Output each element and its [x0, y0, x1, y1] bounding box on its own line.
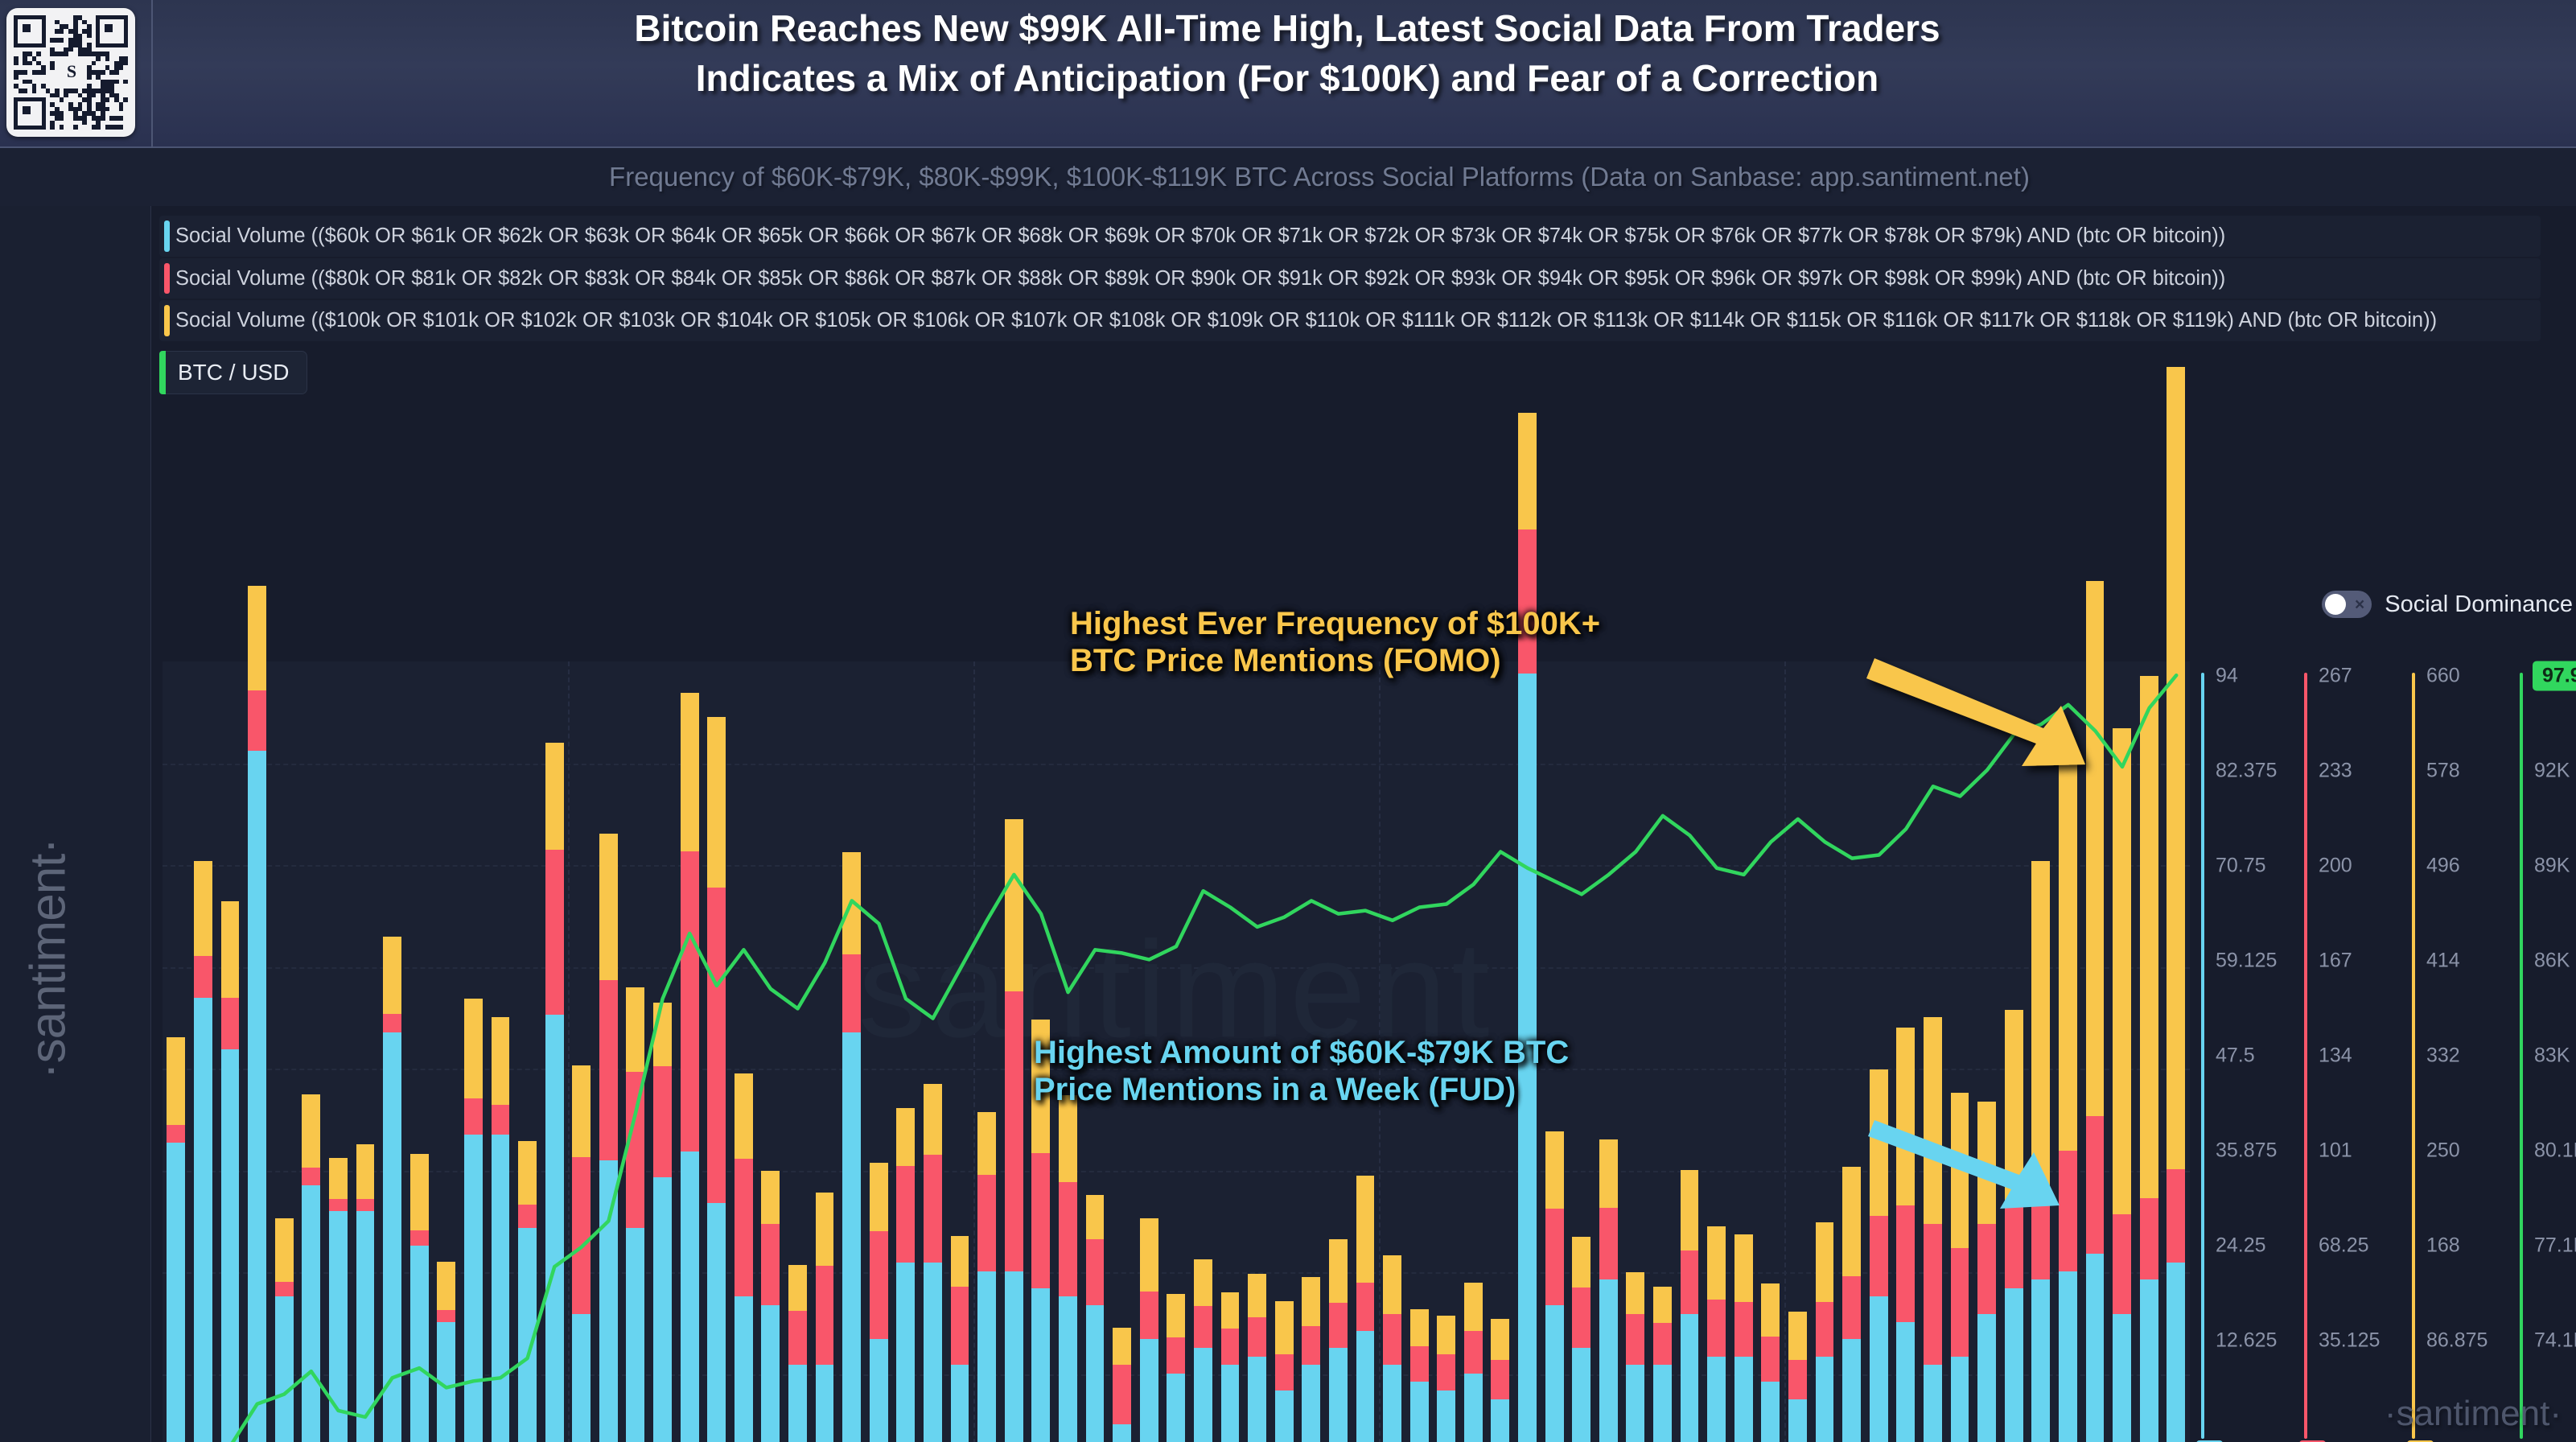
stacked-bar[interactable] [275, 1218, 294, 1442]
annotation-fud-line-2: Price Mentions in a Week (FUD) [1034, 1071, 1569, 1108]
bar-segment [1977, 1224, 1996, 1314]
stacked-bar[interactable] [1086, 1195, 1105, 1442]
bar-slot[interactable] [757, 661, 784, 1442]
stacked-bar[interactable] [492, 1017, 510, 1442]
stacked-bar[interactable] [816, 1193, 834, 1442]
axis-current-value-chip: 97.9K [2533, 661, 2576, 691]
bar-segment [924, 1155, 942, 1263]
page-title: Bitcoin Reaches New $99K All-Time High, … [153, 5, 2422, 105]
bar-slot[interactable] [514, 661, 541, 1442]
stacked-bar[interactable] [518, 1141, 537, 1442]
bar-slot[interactable] [1865, 661, 1892, 1442]
bar-segment [951, 1365, 969, 1442]
stacked-bar[interactable] [707, 717, 726, 1442]
bar-segment [1842, 1276, 1861, 1339]
bar-segment [492, 1135, 510, 1442]
close-icon: × [2355, 596, 2364, 613]
bar-segment [816, 1193, 834, 1266]
qr-code[interactable]: S [6, 8, 135, 137]
bar-segment [2140, 1198, 2158, 1279]
bar-segment [681, 693, 699, 851]
bar-segment [1842, 1339, 1861, 1442]
bar-slot[interactable] [270, 661, 298, 1442]
axis-tick-label: 68.25 [2319, 1234, 2369, 1258]
bar-segment [1464, 1374, 1483, 1442]
stacked-bar[interactable] [2140, 676, 2158, 1442]
stacked-bar[interactable] [735, 1073, 753, 1442]
stacked-bar[interactable] [2167, 367, 2185, 1442]
bar-segment [221, 1049, 240, 1442]
bar-segment [518, 1141, 537, 1205]
bar-slot[interactable] [1595, 661, 1622, 1442]
stacked-bar[interactable] [2031, 861, 2050, 1442]
bar-segment [1275, 1390, 1294, 1442]
bar-segment [2005, 1010, 2023, 1207]
stacked-bar[interactable] [2113, 728, 2131, 1442]
bar-segment [2031, 1189, 2050, 1279]
stacked-bar[interactable] [545, 743, 564, 1442]
bar-segment [1221, 1329, 1240, 1365]
bar-slot[interactable] [946, 661, 973, 1442]
bar-segment [1248, 1317, 1266, 1357]
bar-segment [275, 1218, 294, 1282]
stacked-bar[interactable] [356, 1144, 375, 1442]
stacked-bar[interactable] [437, 1262, 455, 1442]
bar-segment [464, 1135, 483, 1442]
bar-slot[interactable] [1703, 661, 1730, 1442]
stacked-bar[interactable] [1383, 1255, 1401, 1442]
social-dominance-toggle[interactable]: × [2322, 591, 2372, 618]
bar-segment [816, 1266, 834, 1365]
bar-slot[interactable] [920, 661, 947, 1442]
axis-tick-label: 80.1K [2534, 1139, 2576, 1163]
bar-segment [1707, 1300, 1726, 1357]
stacked-bar[interactable] [1788, 1312, 1807, 1442]
bar-segment [735, 1296, 753, 1442]
stacked-bar[interactable] [2086, 581, 2105, 1442]
bar-segment [1302, 1365, 1320, 1442]
stacked-bar[interactable] [1275, 1301, 1294, 1442]
bar-slot[interactable] [838, 661, 866, 1442]
bar-slot[interactable] [1838, 661, 1866, 1442]
stacked-bar[interactable] [924, 1084, 942, 1442]
bar-segment [1545, 1209, 1564, 1304]
bar-slot[interactable] [865, 661, 892, 1442]
bar-segment [1194, 1348, 1212, 1442]
bar-segment [735, 1159, 753, 1297]
stacked-bar[interactable] [2005, 1010, 2023, 1442]
bar-segment [329, 1211, 348, 1442]
bar-segment [653, 1003, 672, 1066]
bar-segment [356, 1199, 375, 1211]
bar-slot[interactable] [892, 661, 920, 1442]
bar-segment [1545, 1131, 1564, 1209]
bar-segment [1924, 1365, 1942, 1442]
stacked-bar[interactable] [410, 1154, 429, 1442]
stacked-bar[interactable] [1410, 1309, 1429, 1442]
bar-segment [356, 1144, 375, 1199]
social-dominance-control[interactable]: × Social Dominance [2322, 591, 2573, 618]
bar-segment [2113, 1214, 2131, 1313]
bar-segment [896, 1108, 915, 1166]
bar-segment [2086, 581, 2105, 1116]
legend-item-btc-usd[interactable]: BTC / USD [159, 351, 307, 394]
bar-segment [1951, 1248, 1969, 1356]
bar-segment [1816, 1357, 1834, 1442]
axis-tick-label: 35.125 [2319, 1329, 2380, 1353]
bar-segment [735, 1073, 753, 1159]
stacked-bar[interactable] [681, 693, 699, 1442]
bar-segment [1383, 1365, 1401, 1442]
bar-segment [1329, 1239, 1348, 1303]
stacked-bar[interactable] [1464, 1283, 1483, 1442]
stacked-bar[interactable] [788, 1265, 807, 1442]
qr-code-pattern: S [14, 15, 128, 130]
stacked-bar[interactable] [1842, 1167, 1861, 1442]
page-subtitle: Frequency of $60K-$79K, $80K-$99K, $100K… [153, 148, 2486, 206]
stacked-bar[interactable] [1140, 1218, 1158, 1442]
bar-segment [1437, 1354, 1455, 1390]
bar-segment [1572, 1287, 1590, 1348]
bar-segment [1059, 1095, 1077, 1183]
bar-slot[interactable] [1000, 661, 1027, 1442]
bar-slot[interactable] [379, 661, 406, 1442]
bar-slot[interactable] [460, 661, 488, 1442]
bar-segment [1924, 1017, 1942, 1224]
bar-segment [2031, 861, 2050, 1189]
bar-slot[interactable] [676, 661, 703, 1442]
bar-slot[interactable] [433, 661, 460, 1442]
stacked-bar[interactable] [1681, 1170, 1699, 1442]
stacked-bar[interactable] [1951, 1093, 1969, 1442]
axis-tick-label: 86.875 [2426, 1329, 2488, 1353]
bar-slot[interactable] [1649, 661, 1677, 1442]
stacked-bar[interactable] [248, 586, 266, 1442]
bar-segment [1518, 413, 1537, 529]
stacked-bar[interactable] [194, 861, 212, 1442]
stacked-bar[interactable] [1761, 1283, 1780, 1442]
bar-slot[interactable] [487, 661, 514, 1442]
bar-slot[interactable] [298, 661, 325, 1442]
stacked-bar[interactable] [1059, 1095, 1077, 1442]
stacked-bar[interactable] [599, 834, 618, 1442]
bar-segment [545, 743, 564, 850]
axis-tick-label: 82.375 [2216, 760, 2277, 783]
stacked-bar[interactable] [1302, 1277, 1320, 1442]
stacked-bar[interactable] [1167, 1294, 1185, 1442]
bar-slot[interactable] [216, 661, 244, 1442]
stacked-bar[interactable] [1816, 1222, 1834, 1442]
stacked-bar[interactable] [761, 1171, 780, 1442]
bar-segment [707, 1203, 726, 1442]
bar-segment [1356, 1176, 1375, 1283]
stacked-bar[interactable] [1221, 1292, 1240, 1442]
stacked-bar[interactable] [977, 1112, 996, 1442]
bar-segment [410, 1230, 429, 1246]
stacked-bar[interactable] [1626, 1272, 1644, 1442]
legend-item-100k-119k[interactable]: Social Volume (($100k OR $101k OR $102k … [159, 300, 2541, 341]
stacked-bar[interactable] [1248, 1274, 1266, 1442]
bar-segment [356, 1211, 375, 1442]
bar-segment [1059, 1182, 1077, 1296]
bar-slot[interactable] [163, 661, 190, 1442]
bar-slot[interactable] [2135, 661, 2162, 1442]
axis-spine [2520, 673, 2523, 1439]
bar-slot[interactable] [1973, 661, 2001, 1442]
axis-tick-label: 578 [2426, 760, 2460, 783]
bar-segment [1086, 1239, 1105, 1305]
bar-slot[interactable] [622, 661, 649, 1442]
bar-segment [1761, 1382, 1780, 1442]
legend-color-swatch-yellow [164, 305, 170, 336]
bar-slot[interactable] [190, 661, 217, 1442]
stacked-bar[interactable] [1518, 413, 1537, 1442]
stacked-bar[interactable] [572, 1065, 591, 1442]
bar-segment [599, 1160, 618, 1442]
bar-segment [1545, 1305, 1564, 1442]
bar-slot[interactable] [1946, 661, 1973, 1442]
legend-item-80k-99k[interactable]: Social Volume (($80k OR $81k OR $82k OR … [159, 258, 2541, 299]
stacked-bar[interactable] [383, 937, 401, 1442]
bar-segment [2167, 1263, 2185, 1442]
bar-slot[interactable] [1730, 661, 1757, 1442]
bar-segment [2086, 1254, 2105, 1442]
stacked-bar[interactable] [1870, 1069, 1888, 1442]
stacked-bar[interactable] [167, 1037, 185, 1442]
bar-slot[interactable] [1784, 661, 1812, 1442]
bar-slot[interactable] [405, 661, 433, 1442]
bar-slot[interactable] [811, 661, 838, 1442]
bar-segment [1816, 1222, 1834, 1303]
stacked-bar[interactable] [329, 1158, 348, 1442]
axis-tick-label: 92K [2534, 760, 2570, 783]
bar-slot[interactable] [2162, 661, 2190, 1442]
legend-color-swatch-cyan [164, 220, 170, 252]
stacked-bar[interactable] [870, 1163, 888, 1442]
bar-slot[interactable] [1920, 661, 1947, 1442]
stacked-bar[interactable] [1977, 1102, 1996, 1442]
stacked-bar[interactable] [464, 999, 483, 1442]
legend-label-80k-99k: Social Volume (($80k OR $81k OR $82k OR … [175, 265, 2225, 293]
bar-segment [1031, 1153, 1050, 1288]
axis-tick-label: 233 [2319, 760, 2352, 783]
bar-segment [545, 1015, 564, 1442]
axis-tick-label: 414 [2426, 950, 2460, 973]
bar-slot[interactable] [1568, 661, 1595, 1442]
bar-segment [1059, 1296, 1077, 1442]
bar-segment [924, 1084, 942, 1155]
bar-segment [2059, 1151, 2077, 1271]
bar-slot[interactable] [352, 661, 379, 1442]
bar-slot[interactable] [244, 661, 271, 1442]
bar-segment [1005, 991, 1023, 1271]
screenshot-root: S Bitcoin Reaches New $99K All-Time High… [0, 0, 2576, 1442]
bar-segment [870, 1163, 888, 1231]
bar-segment [1599, 1279, 1618, 1442]
annotation-fud: Highest Amount of $60K-$79K BTC Price Me… [1034, 1034, 1569, 1108]
stacked-bar[interactable] [1356, 1176, 1375, 1442]
axis-tick-label: 24.25 [2216, 1234, 2266, 1258]
bar-segment [572, 1065, 591, 1158]
bar-segment [761, 1171, 780, 1224]
axis-spine [2201, 673, 2204, 1439]
axis-tick-label: 47.5 [2216, 1044, 2255, 1068]
bar-segment [977, 1175, 996, 1271]
bar-segment [1356, 1331, 1375, 1442]
bar-segment [329, 1199, 348, 1211]
bar-segment [1734, 1234, 1753, 1303]
bar-segment [1951, 1357, 1969, 1442]
stacked-bar[interactable] [842, 852, 861, 1442]
stacked-bar[interactable] [221, 901, 240, 1442]
bar-slot[interactable] [568, 661, 595, 1442]
bar-segment [1113, 1424, 1131, 1442]
stacked-bar[interactable] [1491, 1319, 1509, 1442]
bar-segment [1140, 1218, 1158, 1292]
bar-segment [383, 1032, 401, 1442]
bar-segment [1437, 1390, 1455, 1442]
bar-segment [1248, 1274, 1266, 1317]
chart-panel: Social Volume (($60k OR $61k OR $62k OR … [151, 206, 2576, 1442]
bar-segment [302, 1168, 320, 1185]
stacked-bar[interactable] [1005, 819, 1023, 1442]
bar-segment [437, 1262, 455, 1310]
bar-segment [518, 1205, 537, 1229]
qr-logo: S [54, 54, 89, 89]
bar-slot[interactable] [541, 661, 568, 1442]
axis-tick-label: 12.625 [2216, 1329, 2277, 1353]
legend-item-60k-79k[interactable]: Social Volume (($60k OR $61k OR $62k OR … [159, 216, 2541, 257]
bar-segment [492, 1017, 510, 1105]
stacked-bar[interactable] [302, 1094, 320, 1442]
bar-segment [761, 1305, 780, 1442]
bar-segment [1870, 1216, 1888, 1297]
bar-segment [1572, 1348, 1590, 1442]
bar-segment [1681, 1250, 1699, 1313]
bar-segment [1707, 1226, 1726, 1300]
bar-segment [626, 987, 644, 1073]
bar-slot[interactable] [730, 661, 757, 1442]
bar-segment [518, 1228, 537, 1442]
bar-slot[interactable] [595, 661, 623, 1442]
bar-segment [1788, 1312, 1807, 1360]
bar-segment [1140, 1339, 1158, 1442]
bar-segment [1383, 1255, 1401, 1313]
bar-segment [1221, 1292, 1240, 1329]
stacked-bar[interactable] [626, 987, 644, 1442]
bar-slot[interactable] [1811, 661, 1838, 1442]
bar-segment [1275, 1301, 1294, 1354]
bar-segment [1410, 1382, 1429, 1442]
bar-segment [1924, 1224, 1942, 1365]
stacked-bar[interactable] [1437, 1316, 1455, 1442]
bar-segment [870, 1339, 888, 1442]
bar-segment [1761, 1337, 1780, 1382]
bar-segment [167, 1143, 185, 1442]
bar-segment [1977, 1102, 1996, 1223]
bar-slot[interactable] [649, 661, 677, 1442]
bar-slot[interactable] [784, 661, 812, 1442]
bar-slot[interactable] [2081, 661, 2109, 1442]
bar-segment [383, 937, 401, 1015]
stacked-bar[interactable] [1653, 1287, 1672, 1442]
bar-slot[interactable] [703, 661, 730, 1442]
bar-segment [1816, 1302, 1834, 1356]
stacked-bar[interactable] [1707, 1226, 1726, 1442]
axis-tick-label: 70.75 [2216, 855, 2266, 878]
bar-slot[interactable] [2027, 661, 2055, 1442]
stacked-bar[interactable] [1924, 1017, 1942, 1442]
bar-segment [2140, 1279, 2158, 1442]
bar-slot[interactable] [2000, 661, 2027, 1442]
stacked-bar[interactable] [2059, 750, 2077, 1442]
bar-segment [1167, 1337, 1185, 1374]
right-axes-group: 9482.37570.7559.12547.535.87524.2512.625… [2201, 661, 2571, 1442]
bar-slot[interactable] [2055, 661, 2082, 1442]
bar-segment [761, 1224, 780, 1305]
stacked-bar[interactable] [1194, 1259, 1212, 1442]
stacked-bar[interactable] [1734, 1234, 1753, 1442]
bar-segment [870, 1231, 888, 1339]
bar-segment [248, 586, 266, 690]
bar-segment [626, 1228, 644, 1442]
stacked-bar[interactable] [1329, 1239, 1348, 1442]
header-banner: S Bitcoin Reaches New $99K All-Time High… [0, 0, 2576, 148]
bar-slot[interactable] [2109, 661, 2136, 1442]
bar-segment [437, 1322, 455, 1442]
annotation-fomo-line-1: Highest Ever Frequency of $100K+ [1070, 605, 1600, 642]
bar-slot[interactable] [1892, 661, 1920, 1442]
bar-segment [545, 850, 564, 1015]
bar-slot[interactable] [325, 661, 352, 1442]
bar-slot[interactable] [1622, 661, 1649, 1442]
bar-slot[interactable] [1676, 661, 1703, 1442]
stacked-bar[interactable] [653, 1003, 672, 1442]
stacked-bar[interactable] [1545, 1131, 1564, 1442]
bar-segment [951, 1287, 969, 1365]
bar-segment [1626, 1365, 1644, 1442]
stacked-bar[interactable] [1572, 1237, 1590, 1442]
stacked-bar[interactable] [1896, 1028, 1915, 1442]
bar-segment [1870, 1296, 1888, 1442]
axis-tick-label: 35.875 [2216, 1139, 2277, 1163]
stacked-bar[interactable] [1599, 1139, 1618, 1442]
axis-tick-label: 200 [2319, 855, 2352, 878]
axis-tick-label: 74.1K [2534, 1329, 2576, 1353]
bar-segment [842, 954, 861, 1032]
stacked-bar[interactable] [951, 1236, 969, 1442]
bar-slot[interactable] [973, 661, 1001, 1442]
bar-segment [977, 1271, 996, 1442]
legend-color-swatch-red [164, 263, 170, 295]
bar-segment [1761, 1283, 1780, 1337]
bar-segment [1005, 1271, 1023, 1442]
bar-segment [707, 717, 726, 887]
stacked-bar[interactable] [896, 1108, 915, 1442]
bar-segment [194, 956, 212, 998]
bar-segment [816, 1365, 834, 1442]
bar-segment [707, 888, 726, 1203]
bar-segment [302, 1185, 320, 1442]
bar-segment [1437, 1316, 1455, 1354]
bar-segment [1681, 1314, 1699, 1442]
bar-slot[interactable] [1757, 661, 1784, 1442]
stacked-bar[interactable] [1113, 1328, 1131, 1442]
bar-segment [1491, 1319, 1509, 1360]
bar-segment [464, 1098, 483, 1135]
bar-segment [1707, 1357, 1726, 1442]
bar-segment [1653, 1365, 1672, 1442]
